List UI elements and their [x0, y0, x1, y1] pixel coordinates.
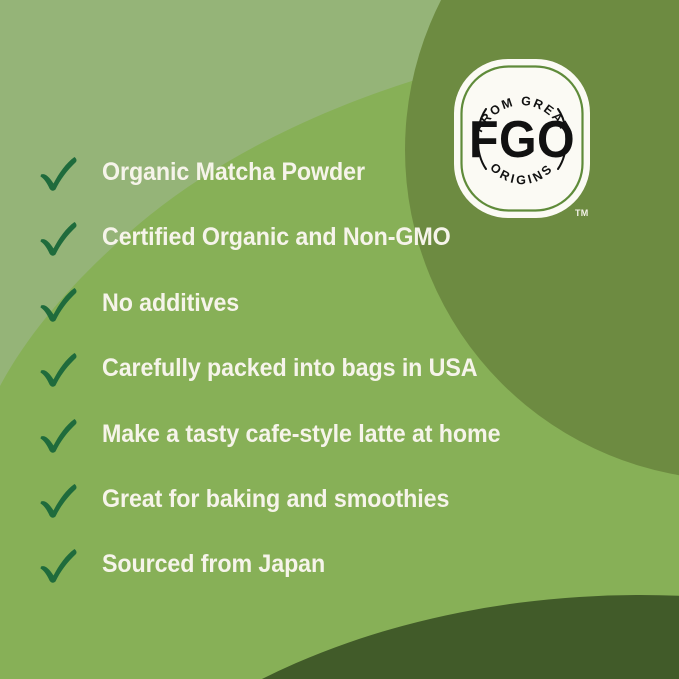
list-item: Make a tasty cafe-style latte at home — [36, 411, 530, 457]
badge-monogram: FGO — [469, 110, 575, 168]
list-item: Organic Matcha Powder — [36, 149, 385, 195]
list-item: Great for baking and smoothies — [36, 476, 475, 522]
feature-label: Make a tasty cafe-style latte at home — [102, 422, 500, 447]
feature-label: Organic Matcha Powder — [102, 160, 365, 185]
list-item: No additives — [36, 280, 249, 326]
check-icon — [36, 411, 82, 457]
list-item: Sourced from Japan — [36, 541, 342, 587]
list-item: Certified Organic and Non-GMO — [36, 214, 477, 260]
check-icon — [36, 214, 82, 260]
feature-label: Sourced from Japan — [102, 552, 325, 577]
feature-label: No additives — [102, 291, 239, 316]
check-icon — [36, 345, 82, 391]
check-icon — [36, 149, 82, 195]
check-icon — [36, 476, 82, 522]
feature-label: Carefully packed into bags in USA — [102, 356, 477, 381]
check-icon — [36, 280, 82, 326]
fgo-badge-svg: FROM GREAT FGO ORIGINS — [452, 57, 592, 220]
feature-label: Great for baking and smoothies — [102, 487, 449, 512]
check-icon — [36, 541, 82, 587]
feature-label: Certified Organic and Non-GMO — [102, 225, 451, 250]
fgo-badge-icon: FROM GREAT FGO ORIGINS — [452, 57, 592, 220]
product-feature-graphic: Organic Matcha Powder Certified Organic … — [0, 0, 679, 679]
trademark-mark: TM — [575, 208, 589, 218]
list-item: Carefully packed into bags in USA — [36, 345, 506, 391]
